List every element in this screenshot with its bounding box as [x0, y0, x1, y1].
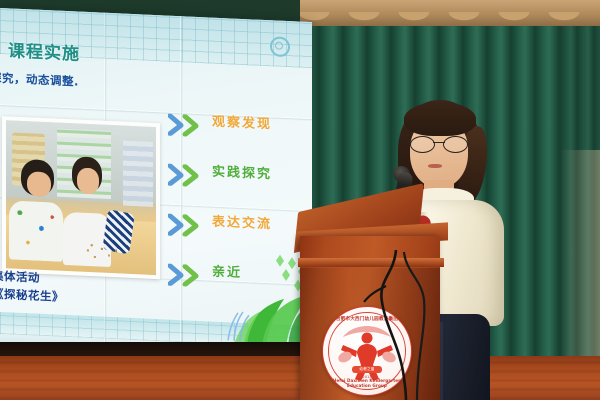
photo-peanuts [84, 242, 123, 264]
photo-child-boy-face [27, 172, 51, 198]
presentation-photo: 课程实施 探究，动态调整. [0, 0, 600, 400]
slide-photo-image [6, 120, 156, 275]
glasses-bridge [433, 142, 445, 143]
slide-bullet-row: 观察发现 [168, 108, 308, 164]
double-chevron-icon [168, 164, 208, 188]
speaker-glasses [410, 136, 468, 151]
photo-shelf-items-right [123, 140, 153, 206]
glasses-lens-left [410, 136, 435, 153]
double-chevron-icon [168, 114, 208, 138]
double-chevron-icon [168, 214, 208, 238]
slide-title: 课程实施 [8, 36, 80, 64]
curtain-valance-scallop [300, 12, 600, 34]
photo-child-boy-body [9, 200, 63, 262]
speaker-fringe [404, 102, 476, 136]
projection-screen: 课程实施 探究，动态调整. [0, 8, 312, 364]
double-chevron-icon [168, 264, 208, 288]
slide-subtitle: 探究，动态调整. [0, 70, 79, 90]
ring-decoration-icon [270, 36, 290, 57]
slide-bullet-label: 观察发现 [212, 111, 272, 133]
microphone-cable [300, 250, 470, 400]
slide-bottom-note-line2: 《探秘花生》 [0, 286, 64, 307]
slide-bullet-label: 实践探究 [212, 161, 272, 183]
photo-child-girl-face [77, 168, 100, 194]
slide-bullet-row: 实践探究 [168, 158, 308, 214]
slide-bullet-label: 表达交流 [212, 211, 272, 233]
slide-bottom-note: 集体活动 《探秘花生》 [0, 268, 64, 307]
glasses-lens-right [443, 136, 468, 153]
slide-photo [2, 116, 160, 279]
speaker-mouth [428, 164, 442, 168]
